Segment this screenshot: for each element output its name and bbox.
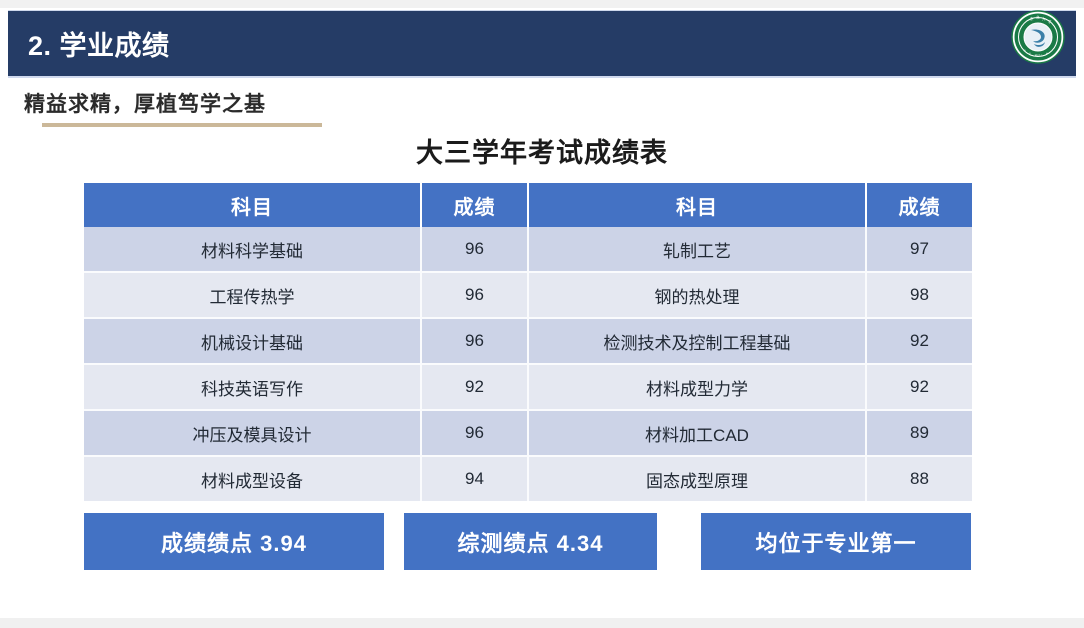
grades-table-head: 科目 成绩 科目 成绩	[84, 183, 972, 227]
subtitle: 精益求精，厚植笃学之基	[24, 88, 266, 118]
summary-box-rank: 均位于专业第一	[701, 513, 971, 570]
page-title: 2. 学业成绩	[28, 24, 170, 63]
cell-score-left: 92	[421, 364, 528, 410]
table-title: 大三学年考试成绩表	[0, 131, 1084, 170]
column-header-subject-left: 科目	[84, 183, 421, 227]
cell-subject-right: 钢的热处理	[528, 272, 866, 318]
university-seal-icon: 东 北 大 学 N O R T H 1923	[1010, 9, 1066, 65]
cell-score-left: 96	[421, 410, 528, 456]
summary-box-composite: 综测绩点 4.34	[404, 513, 657, 570]
cell-subject-left: 材料成型设备	[84, 456, 421, 501]
cell-subject-right: 材料加工CAD	[528, 410, 866, 456]
cell-score-right: 98	[866, 272, 972, 318]
cell-score-left: 96	[421, 318, 528, 364]
cell-subject-left: 机械设计基础	[84, 318, 421, 364]
cell-subject-left: 科技英语写作	[84, 364, 421, 410]
table-row: 材料科学基础 96 轧制工艺 97	[84, 227, 972, 272]
summary-box-gpa: 成绩绩点 3.94	[84, 513, 384, 570]
top-strip	[0, 0, 1084, 8]
cell-subject-left: 冲压及模具设计	[84, 410, 421, 456]
column-header-subject-right: 科目	[528, 183, 866, 227]
table-row: 科技英语写作 92 材料成型力学 92	[84, 364, 972, 410]
cell-score-left: 96	[421, 272, 528, 318]
cell-subject-right: 材料成型力学	[528, 364, 866, 410]
table-header-row: 科目 成绩 科目 成绩	[84, 183, 972, 227]
cell-subject-right: 轧制工艺	[528, 227, 866, 272]
cell-subject-left: 工程传热学	[84, 272, 421, 318]
cell-score-right: 97	[866, 227, 972, 272]
cell-score-left: 94	[421, 456, 528, 501]
grades-table: 科目 成绩 科目 成绩 材料科学基础 96 轧制工艺 97 工程传热学 96 钢…	[84, 183, 972, 501]
bottom-strip	[0, 618, 1084, 628]
cell-score-right: 92	[866, 318, 972, 364]
cell-subject-right: 固态成型原理	[528, 456, 866, 501]
table-row: 工程传热学 96 钢的热处理 98	[84, 272, 972, 318]
cell-score-right: 89	[866, 410, 972, 456]
column-header-score-left: 成绩	[421, 183, 528, 227]
table-row: 冲压及模具设计 96 材料加工CAD 89	[84, 410, 972, 456]
grades-table-body: 材料科学基础 96 轧制工艺 97 工程传热学 96 钢的热处理 98 机械设计…	[84, 227, 972, 501]
cell-score-right: 92	[866, 364, 972, 410]
cell-score-left: 96	[421, 227, 528, 272]
cell-score-right: 88	[866, 456, 972, 501]
column-header-score-right: 成绩	[866, 183, 972, 227]
summary-boxes: 成绩绩点 3.94 综测绩点 4.34 均位于专业第一	[84, 513, 974, 570]
table-row: 机械设计基础 96 检测技术及控制工程基础 92	[84, 318, 972, 364]
header-bar: 2. 学业成绩	[8, 10, 1076, 78]
svg-text:O: O	[1029, 53, 1031, 55]
svg-text:1923: 1923	[1035, 54, 1041, 58]
table-row: 材料成型设备 94 固态成型原理 88	[84, 456, 972, 501]
slide-root: 2. 学业成绩 东 北 大 学 N O R T H 1923	[0, 0, 1084, 628]
subtitle-accent-rule	[42, 123, 322, 127]
cell-subject-right: 检测技术及控制工程基础	[528, 318, 866, 364]
cell-subject-left: 材料科学基础	[84, 227, 421, 272]
